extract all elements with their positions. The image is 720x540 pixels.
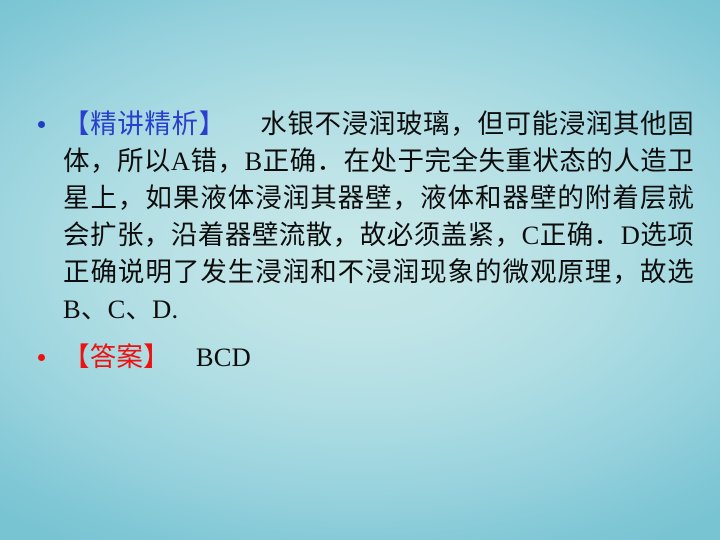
answer-body-text: BCD xyxy=(196,342,251,372)
bullet-dot-icon xyxy=(38,354,45,361)
slide-canvas: 【精讲精析】水银不浸润玻璃，但可能浸润其他固体，所以A错，B正确．在处于完全失重… xyxy=(0,0,720,540)
answer-paragraph: 【答案】BCD xyxy=(63,339,694,376)
list-item[interactable]: 【答案】BCD xyxy=(30,339,694,376)
analysis-paragraph: 【精讲精析】水银不浸润玻璃，但可能浸润其他固体，所以A错，B正确．在处于完全失重… xyxy=(63,106,694,328)
slide-content-body: 【精讲精析】水银不浸润玻璃，但可能浸润其他固体，所以A错，B正确．在处于完全失重… xyxy=(30,106,694,376)
answer-tag-label: 【答案】 xyxy=(63,342,170,372)
bullet-dot-icon xyxy=(38,121,45,128)
analysis-body-text: 水银不浸润玻璃，但可能浸润其他固体，所以A错，B正确．在处于完全失重状态的人造卫… xyxy=(63,109,694,324)
analysis-tag-label: 【精讲精析】 xyxy=(63,109,226,139)
list-item[interactable]: 【精讲精析】水银不浸润玻璃，但可能浸润其他固体，所以A错，B正确．在处于完全失重… xyxy=(30,106,694,328)
